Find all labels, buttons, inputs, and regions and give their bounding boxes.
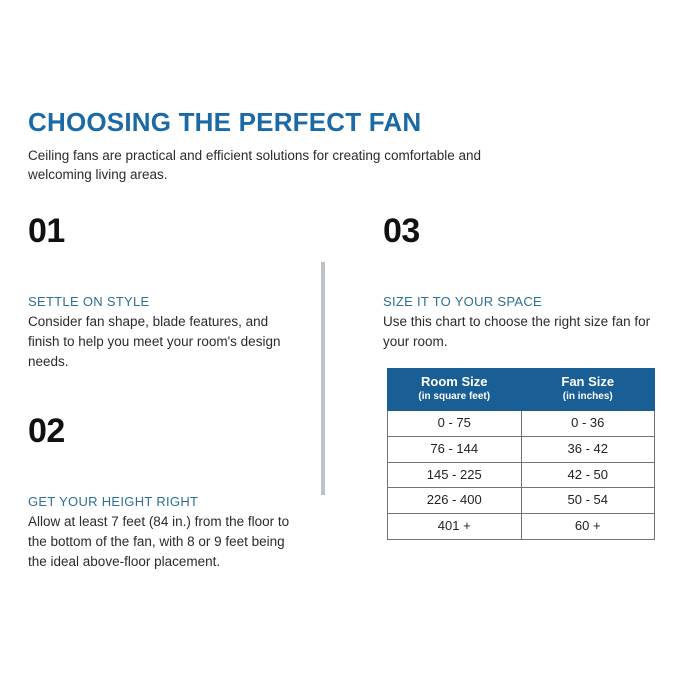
step-number-02: 02 — [28, 414, 296, 448]
table-row: 0 - 75 0 - 36 — [388, 410, 655, 436]
page-header: CHOOSING THE PERFECT FAN Ceiling fans ar… — [28, 108, 548, 185]
cell-room-size: 401 + — [388, 514, 522, 540]
cell-room-size: 0 - 75 — [388, 410, 522, 436]
step-heading-03: SIZE IT TO YOUR SPACE — [383, 294, 663, 310]
table-row: 226 - 400 50 - 54 — [388, 488, 655, 514]
infographic-page: CHOOSING THE PERFECT FAN Ceiling fans ar… — [0, 0, 700, 700]
page-title: CHOOSING THE PERFECT FAN — [28, 108, 548, 137]
cell-fan-size: 60 + — [521, 514, 655, 540]
cell-fan-size: 0 - 36 — [521, 410, 655, 436]
fan-size-table: Room Size (in square feet) Fan Size (in … — [387, 368, 655, 540]
table-header-row: Room Size (in square feet) Fan Size (in … — [388, 369, 655, 411]
step-heading-01: SETTLE ON STYLE — [28, 294, 296, 310]
header-sub-fan-size: (in inches) — [526, 390, 651, 403]
step-body-02: Allow at least 7 feet (84 in.) from the … — [28, 512, 296, 573]
step-body-03: Use this chart to choose the right size … — [383, 312, 663, 353]
cell-fan-size: 42 - 50 — [521, 462, 655, 488]
header-main-fan-size: Fan Size — [526, 375, 651, 390]
step-body-01: Consider fan shape, blade features, and … — [28, 312, 296, 373]
step-text-01: SETTLE ON STYLE Consider fan shape, blad… — [28, 294, 296, 372]
header-sub-room-size: (in square feet) — [392, 390, 517, 403]
cell-room-size: 226 - 400 — [388, 488, 522, 514]
page-subtitle: Ceiling fans are practical and efficient… — [28, 146, 488, 185]
step-block-03: 03 SIZE IT TO YOUR SPACE Use this chart … — [383, 214, 663, 352]
table-row: 145 - 225 42 - 50 — [388, 462, 655, 488]
right-column: 03 SIZE IT TO YOUR SPACE Use this chart … — [383, 214, 663, 352]
table-header: Room Size (in square feet) Fan Size (in … — [388, 369, 655, 411]
table-row: 76 - 144 36 - 42 — [388, 436, 655, 462]
step-heading-02: GET YOUR HEIGHT RIGHT — [28, 494, 296, 510]
step-number-01: 01 — [28, 214, 296, 248]
header-main-room-size: Room Size — [392, 375, 517, 390]
table-header-fan-size: Fan Size (in inches) — [521, 369, 655, 411]
step-block-02: 02 GET YOUR HEIGHT RIGHT Allow at least … — [28, 414, 296, 572]
table-header-room-size: Room Size (in square feet) — [388, 369, 522, 411]
column-divider — [321, 262, 325, 495]
cell-room-size: 145 - 225 — [388, 462, 522, 488]
left-column: 01 SETTLE ON STYLE Consider fan shape, b… — [28, 214, 296, 573]
step-block-01: 01 SETTLE ON STYLE Consider fan shape, b… — [28, 214, 296, 372]
cell-room-size: 76 - 144 — [388, 436, 522, 462]
cell-fan-size: 36 - 42 — [521, 436, 655, 462]
table-row: 401 + 60 + — [388, 514, 655, 540]
step-text-03: SIZE IT TO YOUR SPACE Use this chart to … — [383, 294, 663, 352]
step-text-02: GET YOUR HEIGHT RIGHT Allow at least 7 f… — [28, 494, 296, 572]
step-number-03: 03 — [383, 214, 663, 248]
cell-fan-size: 50 - 54 — [521, 488, 655, 514]
table-body: 0 - 75 0 - 36 76 - 144 36 - 42 145 - 225… — [388, 410, 655, 539]
